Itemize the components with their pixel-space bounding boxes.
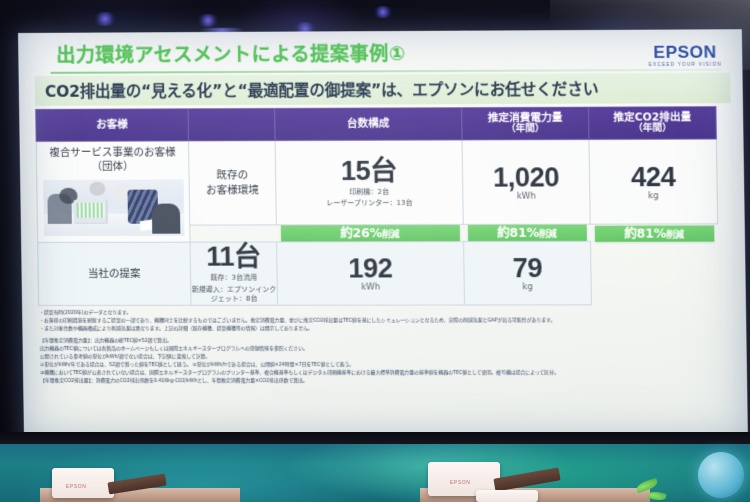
power-existing-cell: 1,020 kWh: [462, 139, 590, 224]
badge-units-cell: 約26%削減: [276, 225, 463, 242]
printer-brand-label: EPSON: [66, 484, 87, 490]
col-header-blank: [188, 108, 275, 140]
photo-laptop: [74, 200, 108, 224]
units-proposal-cell: 11台 既存：3台流用 新規導入：エプソンインクジェット：8台: [190, 242, 277, 305]
co2-proposal-cell: 79 kg: [464, 242, 592, 305]
col-header-customer: お客様: [36, 109, 189, 142]
badge-power-value: 約81%: [497, 225, 539, 240]
badge-co2-suffix: 削減: [666, 230, 684, 240]
table-header-row: お客様 台数構成 推定消費電力量 （年間） 推定CO2排出量 （年間）: [36, 107, 717, 142]
printer-brand-label: EPSON: [450, 480, 471, 486]
table-row: 複合サービス事業のお客様 （団体）: [36, 139, 718, 226]
printer-lower-unit: [476, 490, 538, 502]
footnotes-block-1: ・提案当時(2020年)のデータとなります。 ・お客様の印刷環境を刷新するご提案…: [39, 309, 734, 334]
epson-logo: EPSON EXCEED YOUR VISION: [648, 43, 722, 67]
row-label-existing: 既存の お客様環境: [189, 141, 277, 226]
photo-person-front: [152, 204, 181, 234]
col-header-units: 台数構成: [275, 108, 462, 141]
row-label-existing-line1: 既存の: [189, 168, 275, 183]
power-proposal-unit: kWh: [278, 282, 464, 292]
units-existing-note2: レーザープリンター：13台: [276, 199, 462, 209]
col-header-co2: 推定CO2排出量 （年間）: [588, 107, 716, 140]
screen-bottom-frame: [0, 432, 750, 444]
row-label-existing-line2: お客様環境: [190, 183, 276, 198]
units-proposal-note2: 新規導入：エプソンインクジェット：8台: [191, 285, 277, 304]
printer-right: EPSON: [428, 452, 588, 502]
printer-output-tray: [107, 474, 166, 495]
footnote-line: ③機種においてTEC値が公表されていない場合は、国際エネルギースタープログラムの…: [40, 370, 735, 378]
epson-wordmark: EPSON: [648, 43, 722, 61]
co2-proposal-unit: kg: [465, 282, 591, 292]
badge-co2: 約81%削減: [594, 225, 714, 241]
power-proposal-value: 192: [277, 254, 463, 283]
co2-proposal-value: 79: [464, 254, 590, 283]
badge-co2-cell: 約81%削減: [590, 224, 718, 241]
stage-light: [92, 12, 118, 26]
col-header-co2-sub: （年間）: [589, 123, 716, 134]
co2-existing-cell: 424 kg: [589, 139, 718, 225]
footnote-line: 【年間推定CO2排出量】：消費電力のCO2排出係数を0.416kg-CO2/kW…: [40, 378, 735, 386]
customer-name-line2: （団体）: [43, 160, 183, 175]
stage-light: [372, 6, 394, 18]
table-header: お客様 台数構成 推定消費電力量 （年間） 推定CO2排出量 （年間）: [36, 107, 717, 142]
assessment-table: お客様 台数構成 推定消費電力量 （年間） 推定CO2排出量 （年間）: [35, 106, 719, 305]
printer-body: [52, 468, 114, 498]
power-existing-value: 1,020: [463, 163, 589, 193]
epson-tagline: EXCEED YOUR VISION: [649, 62, 722, 67]
printer-output-tray: [493, 467, 560, 491]
stage-backdrop: EPSON EPSON: [0, 444, 750, 502]
badge-units-suffix: 削減: [382, 230, 400, 240]
units-existing-cell: 15台 印刷機：2台 レーザープリンター：13台: [275, 140, 463, 225]
footnotes-block-2: 【年間推定消費電力量】：出力機器の総TEC値×52週で算出。 出力機器のTEC値…: [40, 338, 735, 386]
badge-power: 約81%削減: [467, 225, 586, 241]
badge-units: 約26%削減: [280, 225, 459, 241]
table-row: 当社の提案 11台 既存：3台流用 新規導入：エプソンインクジェット：8台 19…: [38, 241, 719, 305]
subtitle-band: CO2排出量の“見える化”と“最適配置の御提案”は、エプソンにお任せください: [35, 73, 731, 106]
power-proposal-cell: 192 kWh: [277, 242, 465, 305]
co2-existing-unit: kg: [590, 191, 717, 201]
globe-graphic: [698, 452, 744, 498]
footnote-line: ・また対象台数や機器構成により削減効果は異なります。上記の詳細（既存機種、提案機…: [39, 325, 734, 333]
co2-existing-value: 424: [590, 162, 717, 192]
customer-photo: [43, 180, 184, 236]
units-existing-value: 15台: [276, 156, 462, 186]
title-row: 出力環境アセスメントによる提案事例① EPSON EXCEED YOUR VIS…: [32, 37, 730, 75]
subtitle-text: CO2排出量の“見える化”と“最適配置の御提案”は、エプソンにお任せください: [45, 77, 599, 102]
badge-co2-value: 約81%: [624, 225, 666, 240]
projection-screen: 出力環境アセスメントによる提案事例① EPSON EXCEED YOUR VIS…: [18, 29, 748, 452]
units-existing-note1: 印刷機：2台: [276, 187, 462, 197]
row-label-proposal: 当社の提案: [38, 242, 191, 305]
badge-units-value: 約26%: [340, 226, 382, 241]
photo-head-mid: [89, 182, 105, 196]
units-proposal-value: 11台: [191, 243, 277, 272]
power-existing-unit: kWh: [463, 191, 589, 201]
stage-light: [196, 14, 220, 27]
slide-content: 出力環境アセスメントによる提案事例① EPSON EXCEED YOUR VIS…: [18, 29, 748, 452]
col-header-power: 推定消費電力量 （年間）: [462, 107, 589, 140]
badge-power-cell: 約81%削減: [463, 225, 590, 242]
col-header-power-sub: （年間）: [462, 124, 588, 135]
badge-power-suffix: 削減: [539, 230, 557, 240]
units-proposal-note1: 既存：3台流用: [191, 274, 277, 284]
printer-left: EPSON: [52, 460, 172, 502]
row-label-proposal-line1: 当社の提案: [38, 266, 190, 281]
badge-spacer: [190, 225, 277, 242]
table-body: 複合サービス事業のお客様 （団体）: [36, 139, 719, 305]
customer-name-line1: 複合サービス事業のお客様: [43, 145, 183, 160]
page-title: 出力環境アセスメントによる提案事例①: [32, 37, 730, 71]
customer-cell: 複合サービス事業のお客様 （団体）: [36, 141, 190, 243]
conference-photo-scene: 出力環境アセスメントによる提案事例① EPSON EXCEED YOUR VIS…: [0, 0, 750, 502]
